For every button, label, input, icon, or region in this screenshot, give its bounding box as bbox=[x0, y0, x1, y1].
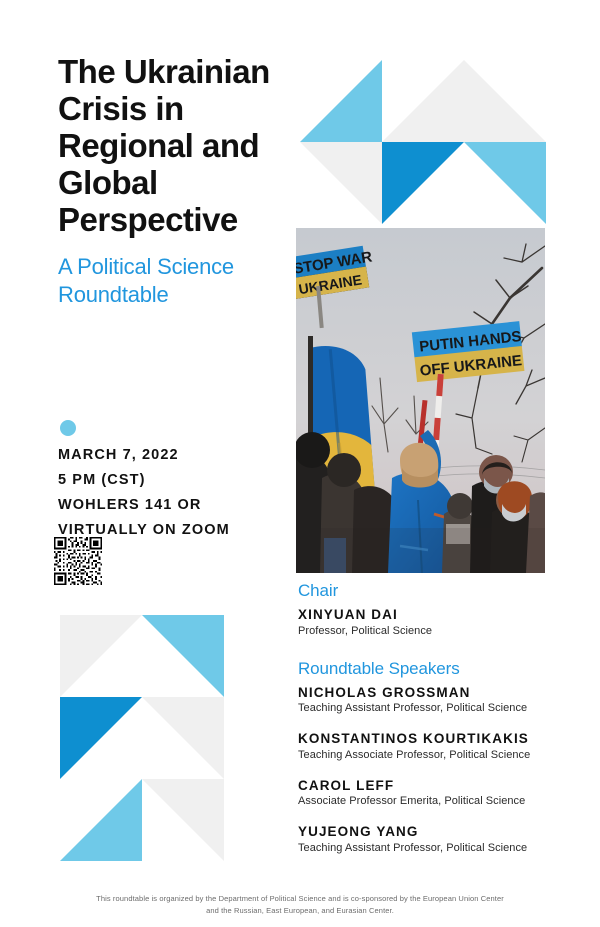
triangle-top-right-icon bbox=[142, 615, 224, 697]
person-entry: CAROL LEFFAssociate Professor Emerita, P… bbox=[298, 777, 578, 810]
speakers-section: Chair XINYUAN DAIProfessor, Political Sc… bbox=[298, 580, 578, 857]
person-name: CAROL LEFF bbox=[298, 777, 578, 795]
person-role: Teaching Associate Professor, Political … bbox=[298, 748, 578, 764]
person-role: Teaching Assistant Professor, Political … bbox=[298, 701, 578, 717]
triangle-top-right-icon bbox=[142, 697, 224, 779]
pattern-bottom-cell-0 bbox=[60, 615, 142, 697]
speaker-list: NICHOLAS GROSSMANTeaching Assistant Prof… bbox=[298, 684, 578, 857]
person-name: XINYUAN DAI bbox=[298, 606, 578, 624]
chair-heading: Chair bbox=[298, 580, 578, 602]
decorative-pattern-bottom bbox=[60, 615, 224, 861]
triangle-top-left-icon bbox=[60, 697, 142, 779]
event-details-block: MARCH 7, 2022 5 PM (CST) WOHLERS 141 OR … bbox=[58, 443, 288, 543]
page-title: The Ukrainian Crisis in Regional and Glo… bbox=[58, 54, 298, 239]
event-location: WOHLERS 141 OR bbox=[58, 493, 288, 518]
pattern-top-cell-2 bbox=[464, 60, 546, 142]
triangle-bottom-right-icon bbox=[60, 779, 142, 861]
pattern-bottom-cell-3 bbox=[142, 697, 224, 779]
triangle-top-right-icon bbox=[464, 142, 546, 224]
pattern-bottom-cell-4 bbox=[60, 779, 142, 861]
chair-list: XINYUAN DAIProfessor, Political Science bbox=[298, 606, 578, 639]
person-role: Associate Professor Emerita, Political S… bbox=[298, 794, 578, 810]
triangle-top-left-icon bbox=[60, 615, 142, 697]
pattern-top-cell-0 bbox=[300, 60, 382, 142]
triangle-bottom-left-icon bbox=[464, 60, 546, 142]
pattern-top-cell-5 bbox=[464, 142, 546, 224]
triangle-bottom-right-icon bbox=[382, 60, 464, 142]
decorative-pattern-top bbox=[300, 60, 546, 224]
person-name: YUJEONG YANG bbox=[298, 823, 578, 841]
footer-credits: This roundtable is organized by the Depa… bbox=[0, 893, 600, 916]
person-entry: YUJEONG YANGTeaching Assistant Professor… bbox=[298, 823, 578, 856]
triangle-bottom-right-icon bbox=[300, 60, 382, 142]
poster-subtitle: A Political Science Roundtable bbox=[58, 253, 298, 309]
event-time: 5 PM (CST) bbox=[58, 468, 288, 493]
event-date: MARCH 7, 2022 bbox=[58, 443, 288, 468]
poster-canvas: The Ukrainian Crisis in Regional and Glo… bbox=[0, 0, 600, 927]
qr-code[interactable] bbox=[52, 535, 104, 587]
triangle-top-right-icon bbox=[142, 779, 224, 861]
person-entry: KONSTANTINOS KOURTIKAKISTeaching Associa… bbox=[298, 730, 578, 763]
accent-dot-icon bbox=[60, 420, 76, 436]
pattern-bottom-cell-5 bbox=[142, 779, 224, 861]
triangle-top-right-icon bbox=[300, 142, 382, 224]
pattern-top-cell-4 bbox=[382, 142, 464, 224]
footer-line-1: This roundtable is organized by the Depa… bbox=[0, 893, 600, 905]
person-role: Teaching Assistant Professor, Political … bbox=[298, 841, 578, 857]
title-block: The Ukrainian Crisis in Regional and Glo… bbox=[58, 54, 298, 309]
person-role: Professor, Political Science bbox=[298, 624, 578, 640]
pattern-bottom-cell-2 bbox=[60, 697, 142, 779]
pattern-top-cell-1 bbox=[382, 60, 464, 142]
pattern-bottom-cell-1 bbox=[142, 615, 224, 697]
protest-photo: STOP WAR UKRAINE PUTIN HANDS OFF UKRAINE bbox=[296, 228, 545, 573]
person-name: KONSTANTINOS KOURTIKAKIS bbox=[298, 730, 578, 748]
triangle-top-left-icon bbox=[382, 142, 464, 224]
footer-line-2: and the Russian, East European, and Eura… bbox=[0, 905, 600, 917]
pattern-top-cell-3 bbox=[300, 142, 382, 224]
person-entry: XINYUAN DAIProfessor, Political Science bbox=[298, 606, 578, 639]
roundtable-heading: Roundtable Speakers bbox=[298, 658, 578, 680]
person-entry: NICHOLAS GROSSMANTeaching Assistant Prof… bbox=[298, 684, 578, 717]
person-name: NICHOLAS GROSSMAN bbox=[298, 684, 578, 702]
